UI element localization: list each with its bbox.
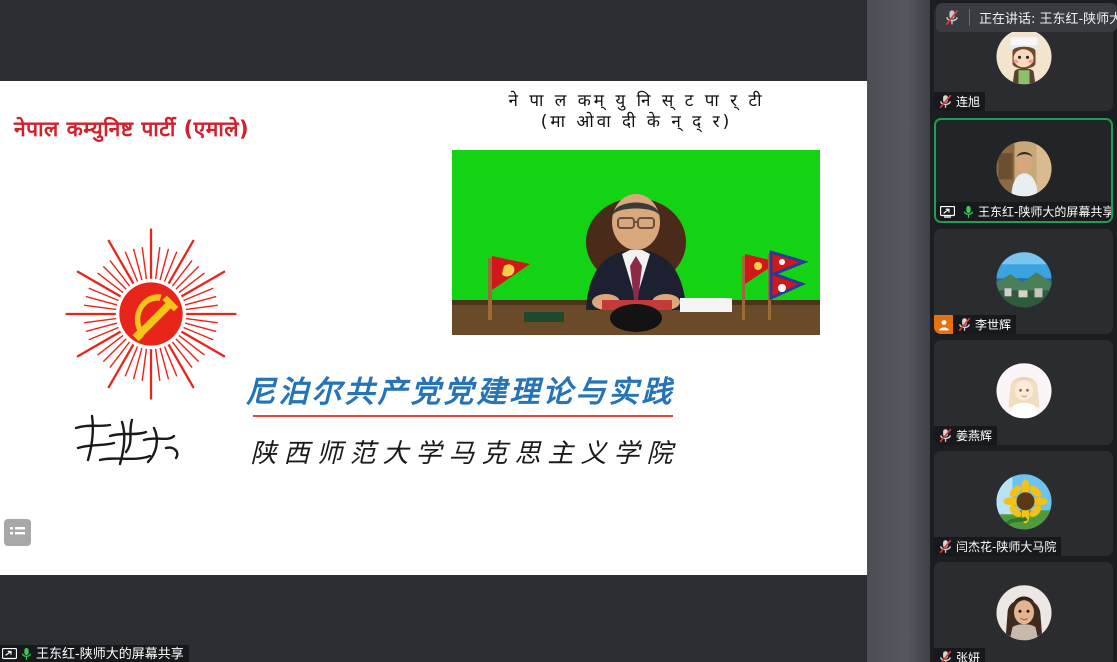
nepali-heading-line1: ने पा ल कम् यु नि स् ट पा र् टी: [452, 91, 821, 112]
nepali-heading-line2: (मा ओवा दी के न् द् र): [452, 112, 821, 133]
participant-tile[interactable]: 张妍: [934, 562, 1113, 662]
participant-name: 闫杰花-陕师大马院: [954, 541, 1056, 553]
participant-tile[interactable]: 王东红-陕师大的屏幕共享: [934, 118, 1113, 223]
participant-name: 姜燕辉: [954, 430, 992, 442]
mic-on-icon: [958, 205, 976, 219]
banner-divider: [969, 9, 970, 26]
host-person-icon: [934, 315, 953, 334]
avatar-photo-illustration-girl: [996, 363, 1051, 418]
participants-strip[interactable]: 连旭 王东红-陕师大的屏幕共享 李世辉: [930, 0, 1117, 662]
slide-subtitle: 陕西师范大学马克思主义学院: [185, 433, 745, 470]
screen-share-icon: [2, 648, 17, 660]
nepali-party-heading-right: ने पा ल कम् यु नि स् ट पा र् टी (मा ओवा …: [452, 91, 821, 134]
active-speaker-banner: 正在讲话: 王东红-陕师大: [936, 3, 1117, 32]
avatar-photo-man: [996, 141, 1051, 196]
avatar-cartoon-person: [996, 29, 1051, 84]
participant-name-bar: 张妍: [934, 648, 985, 662]
screen-share-label-text: 王东红-陕师大的屏幕共享: [36, 648, 184, 661]
meeting-window: नेपाल कम्युनिष्ट पार्टी (एमाले): [0, 0, 1117, 662]
slide-title: 尼泊尔共产党党建理论与实践: [200, 367, 720, 411]
mic-muted-icon: [956, 317, 973, 332]
shared-screen-area[interactable]: नेपाल कम्युनिष्ट पार्टी (एमाले): [0, 0, 867, 662]
panel-divider: [867, 0, 933, 662]
outline-list-icon[interactable]: [4, 519, 31, 546]
speaker-at-desk-photo: [452, 150, 820, 335]
nepali-party-heading-left: नेपाल कम्युनिष्ट पार्टी (एमाले): [14, 115, 249, 143]
presentation-slide[interactable]: नेपाल कम्युनिष्ट पार्टी (एमाले): [0, 81, 867, 575]
title-underline-rule: [253, 415, 673, 417]
participant-tile[interactable]: 李世辉: [934, 229, 1113, 334]
participant-tile[interactable]: 姜燕辉: [934, 340, 1113, 445]
participant-name: 王东红-陕师大的屏幕共享: [976, 206, 1113, 218]
handwritten-signature-wang-donghong: [70, 406, 188, 482]
mic-muted-icon: [934, 650, 954, 662]
participant-name-bar: 姜燕辉: [934, 426, 997, 445]
mic-muted-icon: [934, 94, 954, 109]
mic-muted-icon: [934, 428, 954, 443]
participant-name: 李世辉: [973, 319, 1011, 331]
avatar-photo-sunflower: [996, 474, 1051, 529]
participant-name: 张妍: [954, 652, 980, 662]
participant-tile[interactable]: 闫杰花-陕师大马院: [934, 451, 1113, 556]
avatar-photo-seaside: [996, 252, 1051, 307]
participant-name: 连旭: [954, 96, 980, 108]
avatar-photo-woman: [996, 585, 1051, 640]
participant-name-bar: 王东红-陕师大的屏幕共享: [936, 202, 1113, 221]
active-speaker-text: 正在讲话: 王东红-陕师大: [979, 8, 1117, 27]
mic-muted-icon: [934, 539, 954, 554]
mic-muted-icon: [945, 9, 959, 26]
participant-name-bar: 闫杰花-陕师大马院: [934, 537, 1061, 556]
mic-on-icon: [21, 647, 32, 661]
screen-share-status-label: 王东红-陕师大的屏幕共享: [0, 645, 189, 662]
participant-name-bar: 连旭: [934, 92, 985, 111]
participant-name-bar: 李世辉: [934, 315, 1016, 334]
screen-share-icon: [936, 206, 958, 218]
